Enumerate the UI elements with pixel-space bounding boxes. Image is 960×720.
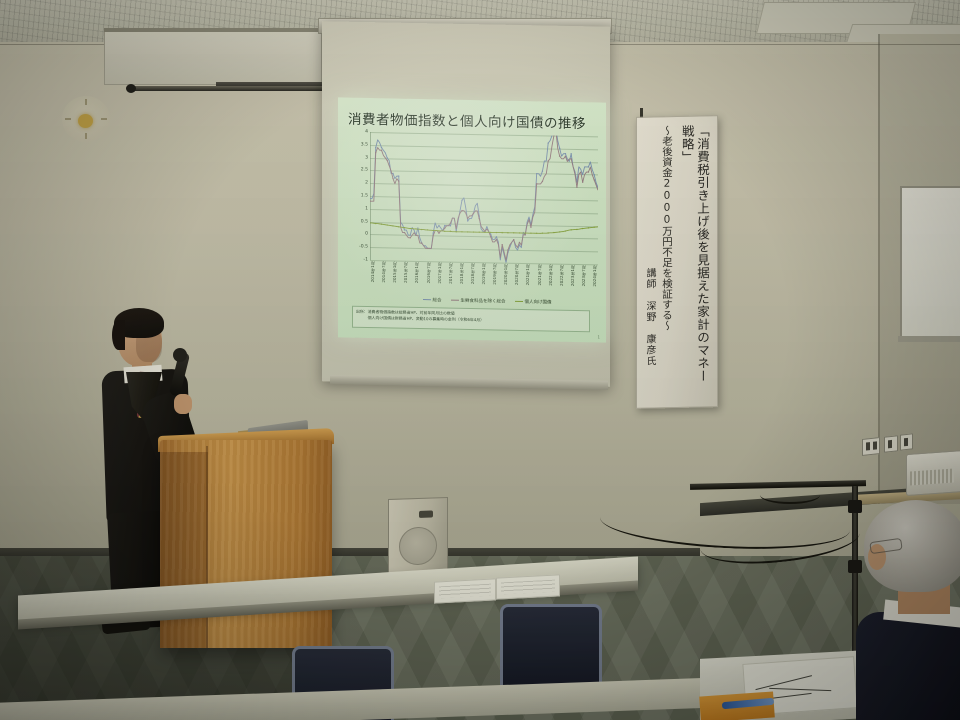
- whiteboard: [900, 186, 960, 340]
- y-axis-tick-label: 2.5: [361, 168, 368, 173]
- chart-data-point: [370, 222, 371, 223]
- chart-plot-area: [370, 132, 598, 264]
- floor-cable-3: [760, 486, 820, 504]
- event-banner: 「消費税引き上げ後を見据えた家計のマネー戦略」 〜老後資金2000万円不足を検証…: [636, 115, 718, 409]
- x-axis-tick-label: 2015年1月: [392, 261, 398, 282]
- chart-data-point: [519, 232, 520, 233]
- chart-data-point: [536, 173, 537, 174]
- podium-panel-seam: [206, 446, 208, 648]
- chart-data-point: [398, 226, 399, 227]
- legend-entry: 生鮮食料品を除く総合: [451, 297, 506, 304]
- chart-data-point: [565, 153, 566, 154]
- chart-data-point: [421, 229, 422, 230]
- presenter-hand: [174, 394, 192, 414]
- chart-data-point: [502, 232, 503, 233]
- curtain-rail-end-cap: [126, 84, 136, 93]
- y-axis-tick-label: 0.5: [361, 219, 368, 224]
- clock-tick-3: [101, 118, 107, 120]
- chart-data-point: [444, 231, 445, 232]
- x-axis-tick-label: 2023年1月: [570, 265, 576, 286]
- presenter-hair-side: [112, 320, 125, 350]
- chart-data-point: [370, 200, 371, 201]
- legend-label: 総合: [433, 297, 442, 303]
- microphone-capsule: [173, 348, 187, 362]
- y-axis-tick-label: 0: [365, 232, 368, 237]
- y-axis-tick-label: 2: [365, 181, 368, 186]
- chart-data-point: [387, 160, 388, 161]
- x-axis-tick-label: 2016年1月: [414, 262, 420, 283]
- x-axis-tick-label: 2020年1月: [503, 264, 509, 285]
- banner-title: 「消費税引き上げ後を見据えた家計のマネー戦略」: [680, 124, 711, 395]
- x-axis-tick-label: 2022年7月: [559, 265, 565, 286]
- x-axis-tick-label: 2014年1月: [370, 261, 376, 282]
- soffit-edge: [104, 28, 320, 32]
- legend-label: 個人向け国債: [525, 299, 552, 306]
- chart-data-point: [381, 149, 382, 150]
- chart-data-point: [507, 232, 508, 233]
- chart-data-point: [450, 231, 451, 232]
- chart-data-point: [438, 230, 439, 231]
- chart-data-point: [392, 173, 393, 174]
- chart-data-point: [421, 242, 422, 243]
- chart-data-point: [559, 148, 560, 149]
- handout-sheet-2: [496, 574, 560, 599]
- x-axis-tick-label: 2023年7月: [581, 265, 587, 286]
- chart-series-line: [370, 132, 598, 264]
- x-axis-tick-label: 2020年7月: [514, 264, 520, 285]
- clock-tick-12: [85, 99, 87, 105]
- x-axis-tick-label: 2016年7月: [426, 262, 432, 283]
- chart-data-point: [404, 232, 405, 233]
- chart-data-point: [593, 174, 594, 175]
- chart-data-point: [473, 231, 474, 232]
- x-axis-tick-label: 2018年1月: [459, 263, 465, 284]
- chart-data-point: [427, 229, 428, 230]
- chart-data-point: [513, 232, 514, 233]
- slide-source-note: 出所：消費者物価指数は総務省HP、対前年同月比の数値 個人向け国債は財務省HP、…: [352, 306, 590, 333]
- handout-sheet-1: [434, 578, 496, 603]
- chart-data-point: [593, 179, 594, 180]
- wall-seam-right: [878, 34, 880, 504]
- x-axis-tick-label: 2018年7月: [470, 263, 476, 284]
- x-axis-tick-label: 2019年7月: [492, 263, 498, 284]
- chart-data-point: [392, 178, 393, 179]
- wall-clock: [62, 96, 110, 142]
- chart-data-point: [398, 175, 399, 176]
- x-axis-tick-label: 2015年7月: [403, 262, 409, 283]
- y-axis-tick-label: 3: [365, 155, 368, 160]
- projected-slide: 消費者物価指数と個人向け国債の推移 43.532.521.510.50-0.5-…: [338, 97, 606, 342]
- chart-data-point: [375, 223, 376, 224]
- legend-label: 生鮮食料品を除く総合: [461, 297, 506, 304]
- y-axis-tick-label: -1: [363, 257, 368, 262]
- x-axis-tick-label: 2022年1月: [548, 264, 554, 285]
- chart-data-point: [387, 224, 388, 225]
- chart-data-point: [387, 157, 388, 158]
- wall-outlet-3: [900, 433, 913, 450]
- chart-data-point: [410, 228, 411, 229]
- chart-data-point: [427, 248, 428, 249]
- x-axis-tick-label: 2024年1月: [592, 265, 598, 286]
- handout-text-lines: [439, 584, 491, 599]
- wall-outlet-1: [862, 437, 880, 456]
- audience-member: [846, 500, 960, 720]
- wall-soffit: [104, 28, 322, 85]
- y-axis-tick-label: 1.5: [361, 193, 368, 198]
- legend-swatch: [423, 299, 431, 301]
- chart-data-point: [381, 147, 382, 148]
- speaker-cone: [399, 526, 437, 565]
- banner-speaker: 講師 深野 康彦氏: [643, 267, 655, 392]
- chart-data-point: [415, 228, 416, 229]
- chart-data-point: [530, 232, 531, 233]
- y-axis-tick-label: 4: [365, 129, 368, 134]
- clock-tick-9: [65, 118, 71, 120]
- chart-data-point: [461, 231, 462, 232]
- x-axis-tick-label: 2019年1月: [481, 263, 487, 284]
- x-axis-tick-label: 2021年1月: [525, 264, 531, 285]
- chart-data-point: [392, 225, 393, 226]
- chart-data-point: [404, 229, 405, 230]
- x-axis-tick-label: 2017年7月: [448, 263, 454, 284]
- chart-series-line: [370, 132, 598, 262]
- audience-jacket: [856, 612, 960, 720]
- chart-data-point: [536, 233, 537, 234]
- cpi-chart: 43.532.521.510.50-0.5-1: [370, 132, 598, 264]
- chart-data-point: [467, 231, 468, 232]
- legend-swatch: [515, 301, 523, 303]
- legend-swatch: [451, 299, 459, 301]
- slide-title: 消費者物価指数と個人向け国債の推移: [348, 108, 598, 133]
- x-axis-tick-label: 2021年7月: [537, 264, 543, 285]
- chart-data-point: [370, 198, 371, 199]
- clock-hub: [78, 114, 93, 128]
- chart-data-point: [381, 223, 382, 224]
- y-axis-tick-label: 1: [365, 206, 368, 211]
- curtain-rail: [128, 86, 326, 91]
- legend-entry: 個人向け国債: [515, 298, 552, 305]
- clock-tick-6: [85, 133, 87, 139]
- y-axis-tick-label: -0.5: [359, 245, 368, 250]
- slide-page-number: 1: [597, 334, 600, 339]
- legend-entry: 総合: [423, 297, 442, 303]
- whiteboard-tray: [898, 336, 960, 342]
- x-axis-tick-label: 2017年1月: [437, 262, 443, 283]
- chart-data-point: [559, 155, 560, 156]
- sketch-stroke-2: [769, 688, 831, 691]
- wall-outlet-2: [884, 435, 898, 452]
- banner-subtitle: 〜老後資金2000万円不足を検証する〜: [660, 125, 673, 355]
- chart-data-point: [479, 231, 480, 232]
- handout-text-lines-2: [501, 580, 555, 595]
- chart-data-point: [496, 232, 497, 233]
- seminar-room-photo: 消費者物価指数と個人向け国債の推移 43.532.521.510.50-0.5-…: [0, 0, 960, 720]
- speaker-handle: [419, 510, 433, 517]
- y-axis-tick-label: 3.5: [361, 142, 368, 147]
- x-axis-tick-label: 2014年7月: [381, 261, 387, 282]
